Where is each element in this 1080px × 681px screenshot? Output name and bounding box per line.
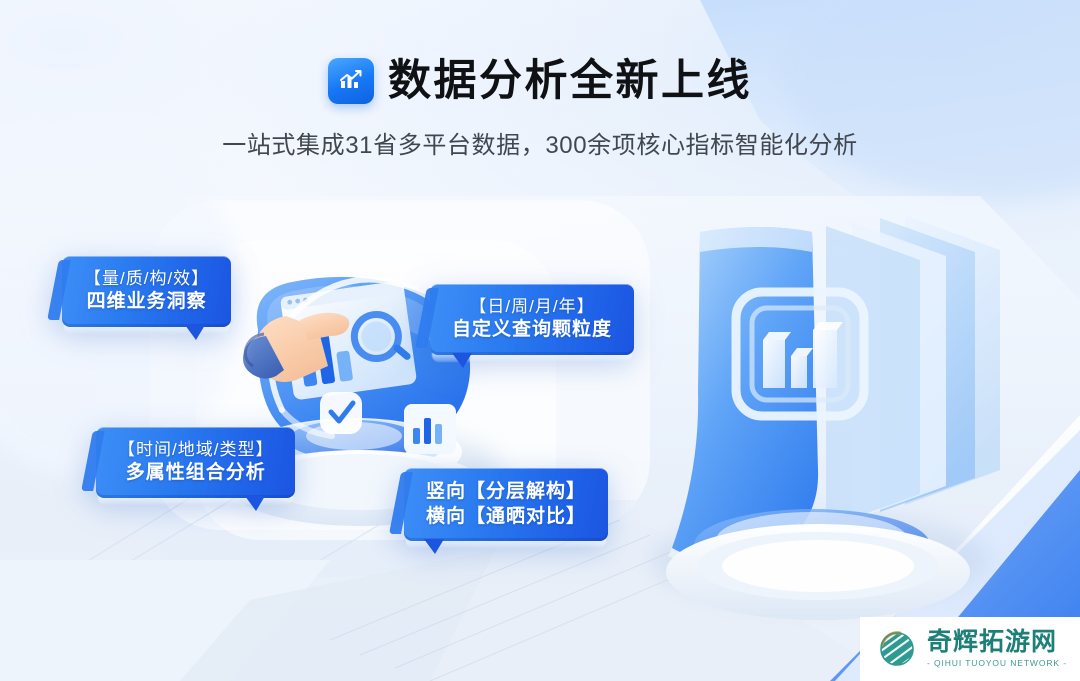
watermark-text: 奇辉拓游网 - QIHUI TUOYOU NETWORK -: [927, 630, 1067, 668]
banner-header: 数据分析全新上线 一站式集成31省多平台数据，300余项核心指标智能化分析: [0, 58, 1080, 160]
feature-line-1: 【时间/地域/类型】: [118, 439, 273, 461]
card-tail: [185, 325, 205, 340]
feature-line-1: 【量/质/构/效】: [84, 268, 209, 290]
card-body: 【量/质/构/效】 四维业务洞察: [62, 256, 231, 327]
bar-chart-icon: [328, 58, 374, 104]
watermark-name: 奇辉拓游网: [927, 630, 1067, 655]
feature-card-vertical-horizontal-compare[interactable]: 竖向【分层解构】 横向【通晒对比】: [404, 468, 608, 541]
page-subtitle: 一站式集成31省多平台数据，300余项核心指标智能化分析: [0, 125, 1080, 160]
watermark: 奇辉拓游网 - QIHUI TUOYOU NETWORK -: [860, 617, 1080, 681]
qihui-circular-logo: [876, 628, 918, 670]
feature-card-custom-query-granularity[interactable]: 【日/周/月/年】 自定义查询颗粒度: [430, 284, 634, 355]
feature-line-2: 多属性组合分析: [118, 461, 273, 486]
feature-line-1: 【日/周/月/年】: [452, 296, 612, 318]
card-tail: [452, 353, 472, 368]
page-title: 数据分析全新上线: [388, 60, 752, 103]
watermark-tagline: - QIHUI TUOYOU NETWORK -: [927, 659, 1067, 668]
feature-line-1: 竖向【分层解构】: [426, 480, 586, 505]
promo-banner: 数据分析全新上线 一站式集成31省多平台数据，300余项核心指标智能化分析 【量…: [0, 0, 1080, 681]
card-body: 【时间/地域/类型】 多属性组合分析: [96, 427, 295, 498]
feature-line-2: 横向【通晒对比】: [426, 505, 586, 530]
card-body: 竖向【分层解构】 横向【通晒对比】: [404, 468, 608, 541]
card-body: 【日/周/月/年】 自定义查询颗粒度: [430, 284, 634, 355]
feature-card-four-dimension-insight[interactable]: 【量/质/构/效】 四维业务洞察: [62, 256, 231, 327]
card-tail: [424, 539, 444, 554]
card-tail: [245, 496, 265, 511]
feature-line-2: 四维业务洞察: [84, 290, 209, 315]
feature-line-2: 自定义查询颗粒度: [452, 318, 612, 343]
title-row: 数据分析全新上线: [0, 58, 1080, 104]
feature-card-multi-attribute-analysis[interactable]: 【时间/地域/类型】 多属性组合分析: [96, 427, 295, 498]
